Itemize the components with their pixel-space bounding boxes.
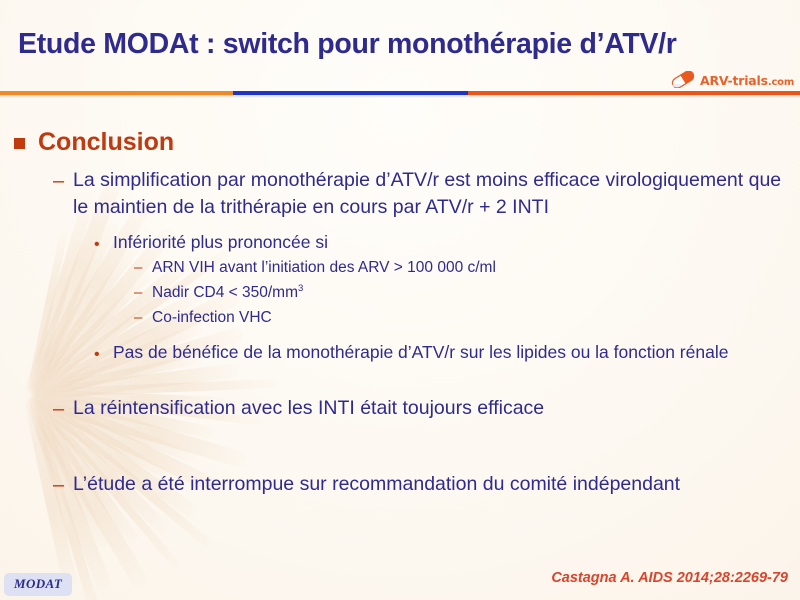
square-bullet-icon [14,138,25,149]
modat-badge: MODAT [4,573,72,596]
dash-bullet-icon: – [53,168,64,195]
bullet-item: – La réintensification avec les INTI éta… [53,395,800,422]
dash-bullet-icon: – [53,472,64,499]
dot-bullet-icon: • [94,232,100,257]
spacer [0,331,800,340]
bullet-item: – ARN VIH avant l’initiation des ARV > 1… [134,256,800,280]
bullet-text: ARN VIH avant l’initiation des ARV > 100… [152,256,772,280]
bullet-text: Infériorité plus prononcée si [113,230,781,255]
bullet-text: Co-infection VHC [152,306,772,330]
spacer [0,365,800,395]
slide-content: Conclusion – La simplification par monot… [0,126,800,498]
divider-shadow [0,95,800,98]
bullet-item: – Co-infection VHC [134,306,800,330]
slide-canvas: Etude MODAt : switch pour monothérapie d… [0,0,800,600]
bullet-text: L’étude a été interrompue sur recommanda… [73,471,785,498]
dash-bullet-icon: – [134,281,142,305]
reference-citation: Castagna A. AIDS 2014;28:2269-79 [551,570,788,586]
conclusion-heading: Conclusion [14,126,800,158]
dash-bullet-icon: – [53,396,64,423]
bullet-item: – Nadir CD4 < 350/mm3 [134,281,800,305]
capsule-icon [670,71,696,88]
logo-text-main: ARV-trials [700,73,768,88]
dot-bullet-icon: • [94,342,100,367]
logo-text: ARV-trials.com [700,73,794,88]
dash-bullet-icon: – [134,256,142,280]
bullet-text: La simplification par monothérapie d’ATV… [73,167,785,220]
spacer [0,447,800,471]
spacer [0,221,800,230]
bullet-item: – La simplification par monothérapie d’A… [53,167,800,220]
spacer [0,423,800,447]
bullet-text: Pas de bénéfice de la monothérapie d’ATV… [113,340,781,365]
bullet-item: • Infériorité plus prononcée si [94,230,800,255]
page-title: Etude MODAt : switch pour monothérapie d… [18,28,778,61]
bullet-item: – L’étude a été interrompue sur recomman… [53,471,800,498]
bullet-text: Nadir CD4 < 350/mm3 [152,281,772,305]
bullet-item: • Pas de bénéfice de la monothérapie d’A… [94,340,800,365]
bullet-text: La réintensification avec les INTI était… [73,395,785,422]
dash-bullet-icon: – [134,306,142,330]
logo-text-suffix: .com [768,77,794,88]
conclusion-heading-label: Conclusion [38,126,800,158]
